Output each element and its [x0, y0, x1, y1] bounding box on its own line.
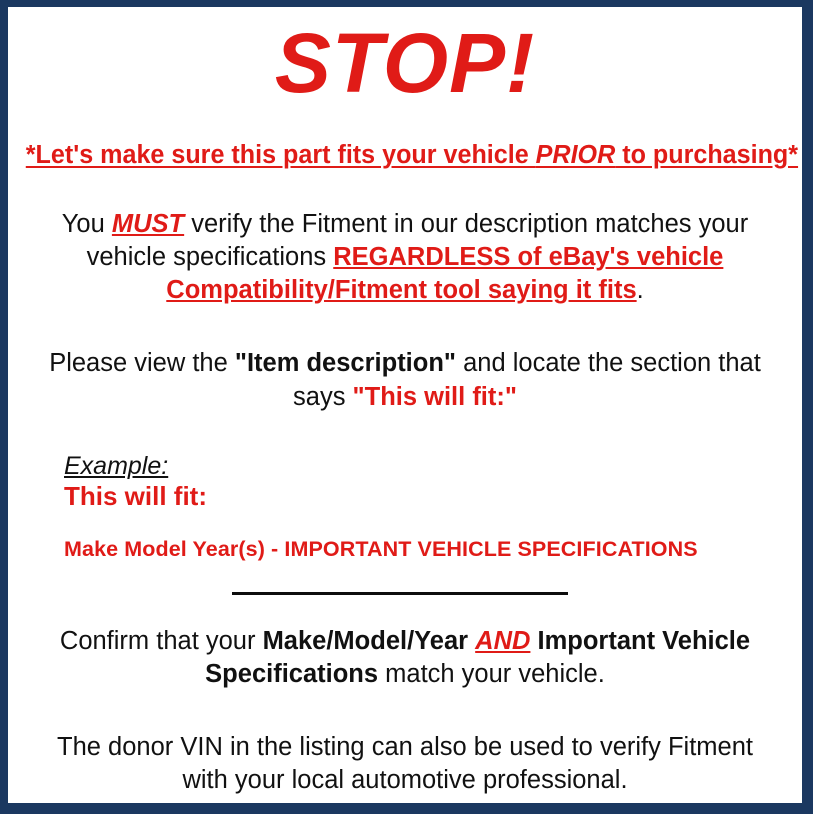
example-label: Example: — [64, 452, 168, 480]
must-seg-1: You — [62, 210, 112, 238]
this-will-fit-label: "This will fit:" — [353, 383, 517, 411]
must-emphasis: MUST — [112, 210, 184, 238]
example-fit-heading: This will fit: — [64, 482, 790, 511]
confirm-seg-5: match your vehicle. — [378, 660, 605, 688]
desc-seg-1: Please view the — [49, 349, 235, 377]
section-divider — [20, 592, 790, 595]
confirm-space-2 — [530, 627, 537, 655]
example-spec-line: Make Model Year(s) - IMPORTANT VEHICLE S… — [64, 538, 790, 562]
confirm-seg-1: Confirm that your — [60, 627, 263, 655]
subtitle-prefix: *Let's make sure this part fits your veh… — [26, 141, 536, 169]
example-block: Example: This will fit: Make Model Year(… — [20, 452, 790, 562]
item-description-label: "Item description" — [235, 349, 456, 377]
page-title: STOP! — [20, 21, 790, 105]
fitment-notice-card: STOP! *Let's make sure this part fits yo… — [0, 0, 813, 814]
make-model-year-label: Make/Model/Year — [263, 627, 469, 655]
paragraph-donor-vin: The donor VIN in the listing can also be… — [20, 731, 790, 797]
notice-content: STOP! *Let's make sure this part fits yo… — [8, 21, 802, 814]
must-seg-5: . — [637, 276, 644, 304]
paragraph-must-verify: You MUST verify the Fitment in our descr… — [20, 208, 790, 307]
example-label-row: Example: — [64, 452, 790, 480]
and-emphasis: AND — [475, 627, 530, 655]
subtitle-suffix: to purchasing* — [615, 141, 798, 169]
paragraph-item-description: Please view the "Item description" and l… — [20, 347, 790, 413]
divider-rule — [232, 592, 568, 595]
paragraph-confirm: Confirm that your Make/Model/Year AND Im… — [20, 625, 790, 691]
subtitle-emphasis-prior: PRIOR — [536, 141, 616, 169]
subtitle-banner: *Let's make sure this part fits your veh… — [26, 141, 784, 169]
